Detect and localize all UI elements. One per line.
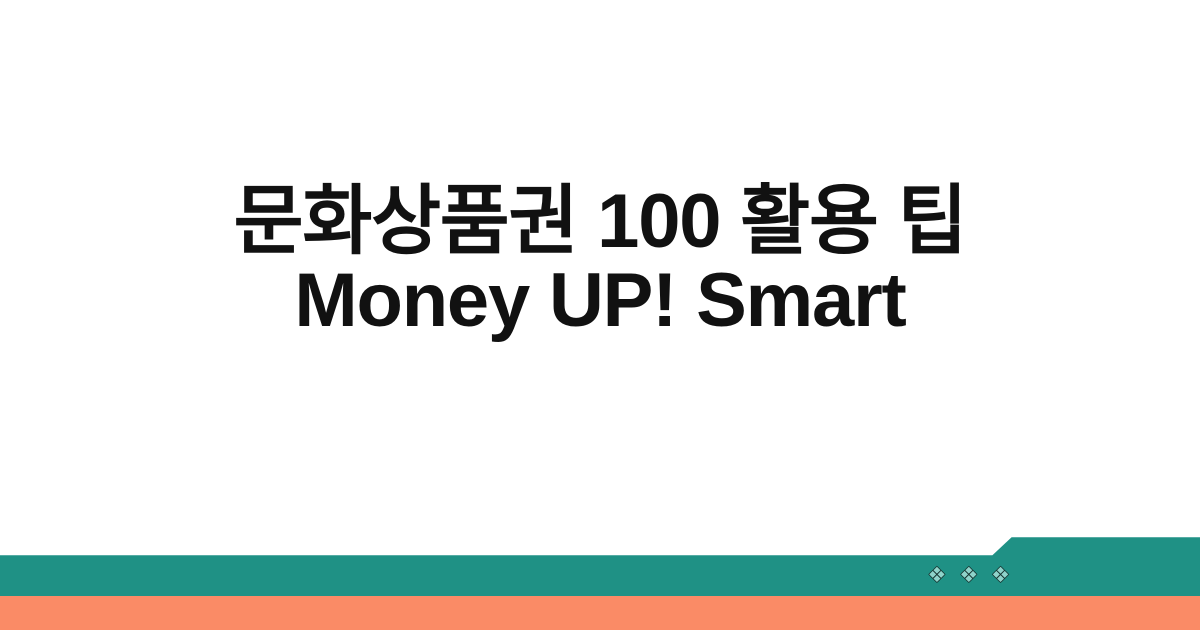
diamond-sparkle-icon: ❖ (959, 565, 978, 586)
bottom-decoration: ❖ ❖ ❖ (0, 535, 1200, 630)
teal-band (0, 536, 1200, 596)
diamond-sparkle-icon: ❖ (928, 565, 947, 586)
page-title: 문화상품권 100 활용 팁 Money UP! Smart (170, 182, 1030, 340)
title-area: 문화상품권 100 활용 팁 Money UP! Smart (0, 0, 1200, 537)
diamond-sparkle-icon: ❖ (991, 565, 1010, 586)
sparkle-row: ❖ ❖ ❖ (928, 565, 1010, 586)
promo-card: 문화상품권 100 활용 팁 Money UP! Smart ❖ ❖ ❖ (0, 0, 1200, 630)
coral-band (0, 596, 1200, 630)
